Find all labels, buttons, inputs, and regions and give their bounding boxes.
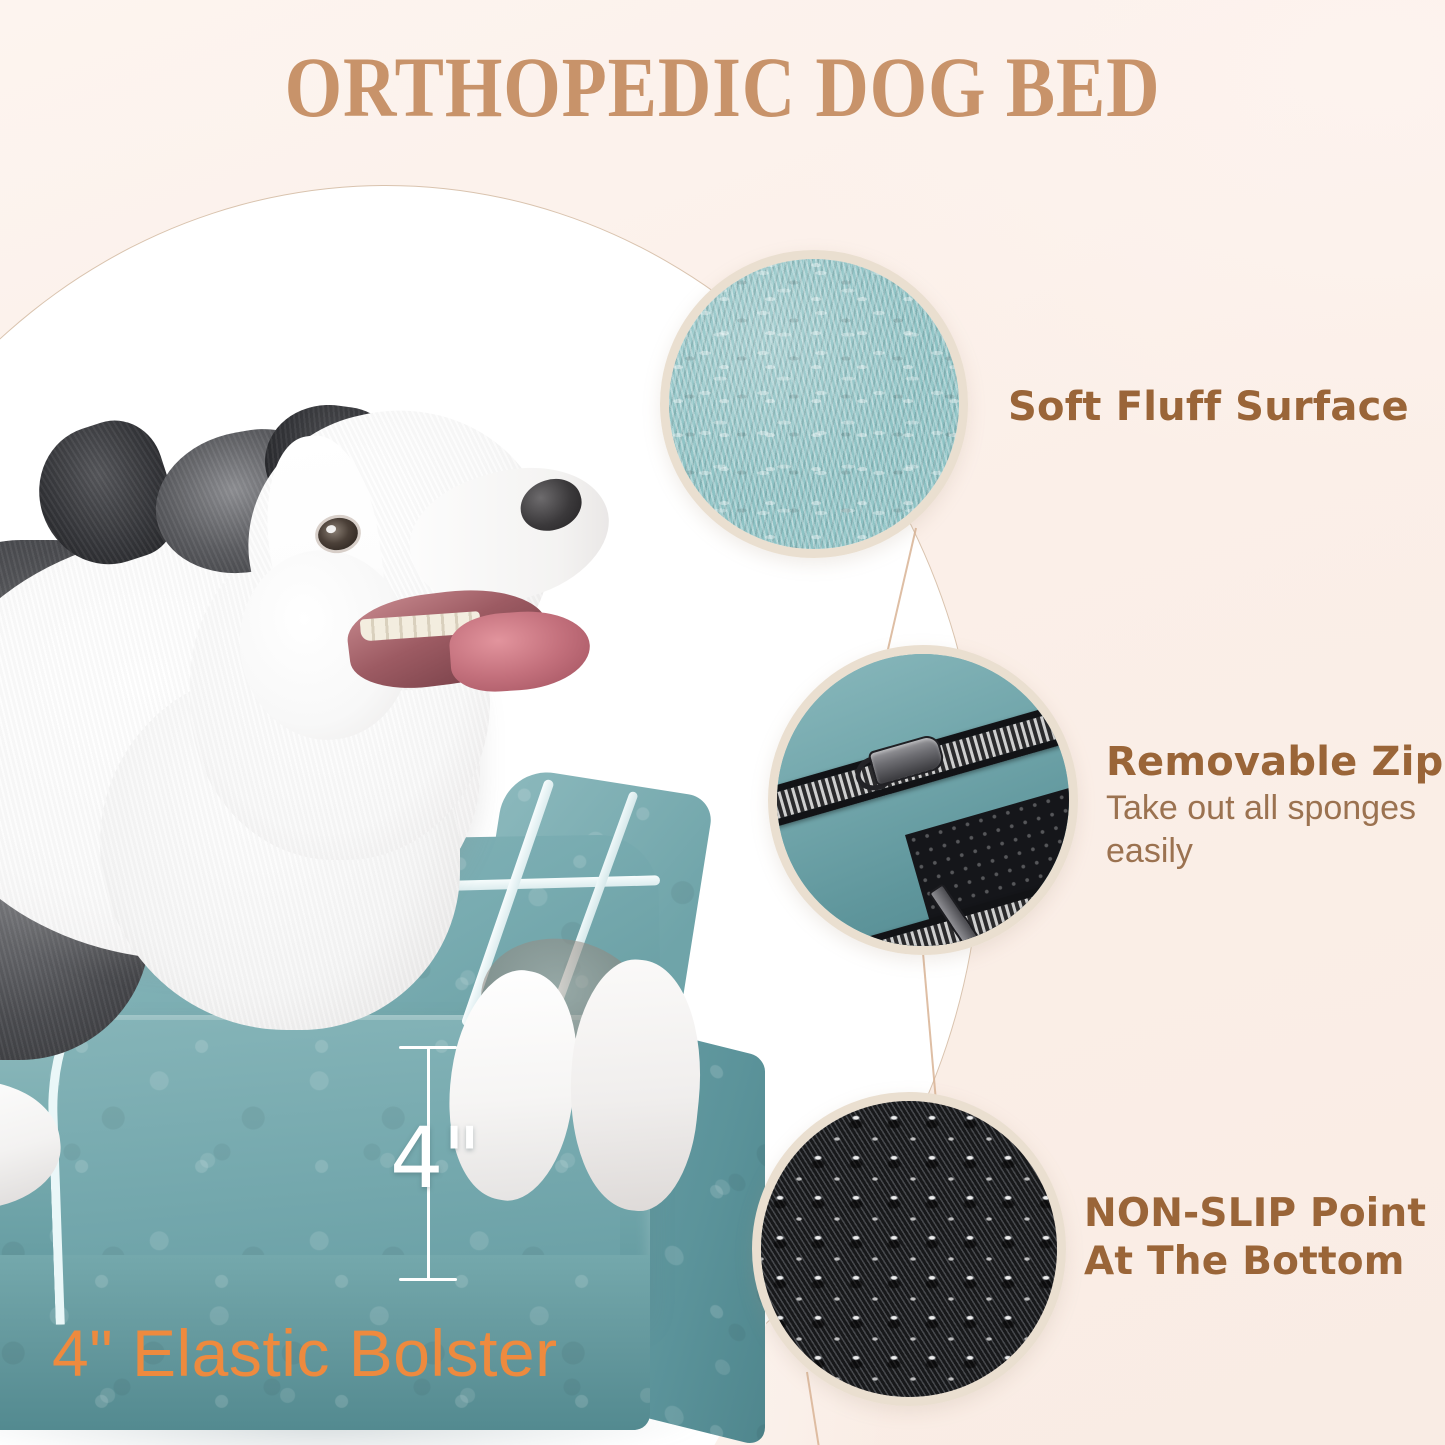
infographic-canvas: ORTHOPEDIC DOG BED (0, 0, 1445, 1445)
border-collie-dog (0, 200, 700, 1100)
feature-label-nonslip: NON-SLIP Point At The Bottom (1084, 1190, 1426, 1285)
feature-heading-fluff: Soft Fluff Surface (1008, 383, 1409, 432)
dog-tongue (447, 607, 592, 695)
non-slip-dotted-bottom-swatch (752, 1092, 1066, 1406)
dimension-cap-bottom (399, 1278, 457, 1281)
fluff-texture (669, 259, 959, 549)
bolster-caption: 4" Elastic Bolster (52, 1320, 558, 1386)
feature-description-zipper: Take out all sponges easily (1106, 787, 1436, 874)
feature-heading-nonslip-line2: At The Bottom (1084, 1238, 1426, 1286)
nonslip-silicone-dots-offset (761, 1101, 1057, 1397)
bolster-height-dimension: 4" (380, 1038, 550, 1288)
zipper-swatch-base (777, 654, 1069, 946)
page-title: ORTHOPEDIC DOG BED (101, 44, 1344, 130)
soft-fluff-fabric-swatch (660, 250, 968, 558)
feature-heading-zipper: Removable Zipper (1106, 738, 1445, 787)
feature-label-zipper: Removable Zipper Take out all sponges ea… (1106, 738, 1445, 874)
feature-heading-nonslip-line1: NON-SLIP Point (1084, 1190, 1426, 1238)
removable-zipper-closeup-swatch (768, 645, 1078, 955)
feature-label-fluff: Soft Fluff Surface (1008, 383, 1409, 432)
dimension-value: 4" (390, 1116, 540, 1200)
